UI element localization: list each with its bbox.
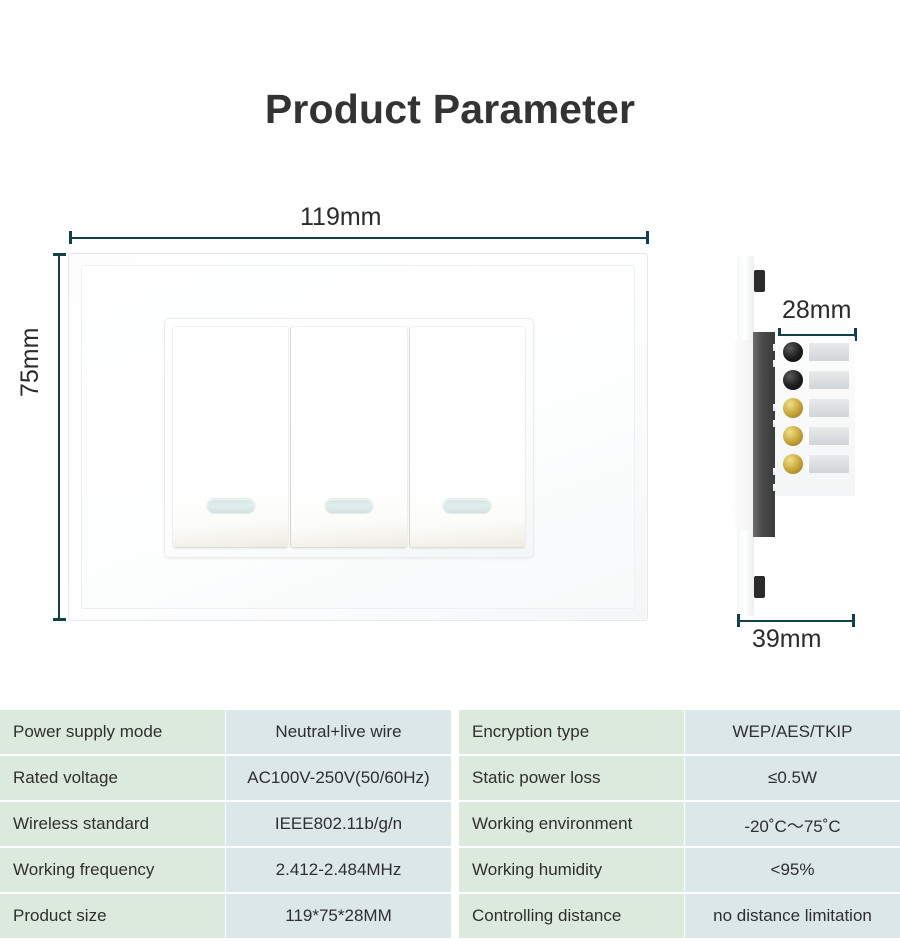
- rocker-button-3[interactable]: [410, 327, 525, 547]
- terminal-row-1: [783, 342, 851, 364]
- indicator-light-icon-3: [444, 499, 491, 513]
- table-row: -20˚C～75˚C: [685, 802, 900, 848]
- page-title: Product Parameter: [0, 86, 900, 133]
- front-width-dimension-line: [69, 237, 649, 239]
- table-row: Working humidity: [459, 848, 684, 894]
- terminal-row-3: [783, 398, 851, 420]
- rocker-row: [173, 327, 525, 547]
- table-center-gap: [451, 802, 459, 848]
- terminal-wire-slot-2: [809, 371, 849, 389]
- table-center-gap: [451, 894, 459, 940]
- front-height-tick-top: [53, 253, 66, 256]
- terminal-row-5: [783, 454, 851, 476]
- table-row: AC100V-250V(50/60Hz): [226, 756, 451, 802]
- switch-body-front: [733, 340, 755, 530]
- front-height-dimension-label: 75mm: [16, 328, 45, 397]
- terminal-wire-slot-5: [809, 455, 849, 473]
- table-row: Working environment: [459, 802, 684, 848]
- table-row: Static power loss: [459, 756, 684, 802]
- indicator-light-icon-1: [207, 499, 254, 513]
- terminal-wire-slot-4: [809, 427, 849, 445]
- table-row: WEP/AES/TKIP: [685, 710, 900, 756]
- spec-table: Power supply mode Neutral+live wire Encr…: [0, 710, 900, 940]
- terminal-screw-brass-1: [783, 398, 803, 418]
- table-row: Wireless standard: [0, 802, 225, 848]
- terminal-screw-brass-3: [783, 454, 803, 474]
- table-center-gap: [451, 848, 459, 894]
- side-width-dimension-line: [737, 620, 855, 622]
- terminal-screw-black-2: [783, 370, 803, 390]
- rocker-button-1[interactable]: [173, 327, 288, 547]
- rocker-button-2[interactable]: [291, 327, 406, 547]
- front-width-tick-right: [646, 231, 649, 244]
- table-row: Neutral+live wire: [226, 710, 451, 756]
- front-height-tick-bottom: [53, 618, 66, 621]
- table-row: Rated voltage: [0, 756, 225, 802]
- terminal-row-4: [783, 426, 851, 448]
- front-width-tick-left: [69, 231, 72, 244]
- table-row: <95%: [685, 848, 900, 894]
- front-width-dimension-label: 119mm: [300, 203, 382, 232]
- table-row: IEEE802.11b/g/n: [226, 802, 451, 848]
- mounting-tab-bottom-icon: [754, 576, 765, 598]
- mounting-tab-top-icon: [754, 270, 765, 292]
- terminal-row-2: [783, 370, 851, 392]
- table-row: ≤0.5W: [685, 756, 900, 802]
- switch-inner-frame: [164, 318, 534, 558]
- table-row: Controlling distance: [459, 894, 684, 940]
- table-center-gap: [451, 756, 459, 802]
- switch-body-chassis: [753, 332, 775, 537]
- table-row: no distance limitation: [685, 894, 900, 940]
- table-row: Power supply mode: [0, 710, 225, 756]
- side-width-tick-left: [737, 614, 740, 627]
- switch-side-view: [733, 256, 883, 616]
- terminal-wire-slot-3: [809, 399, 849, 417]
- indicator-light-icon-2: [325, 499, 372, 513]
- front-height-dimension-line: [58, 253, 60, 621]
- terminal-screw-brass-2: [783, 426, 803, 446]
- table-row: Working frequency: [0, 848, 225, 894]
- product-parameter-page: Product Parameter 119mm 75mm: [0, 0, 900, 941]
- switch-front-view: [68, 253, 648, 621]
- table-row: 2.412-2.484MHz: [226, 848, 451, 894]
- table-row: 119*75*28MM: [226, 894, 451, 940]
- table-center-gap: [451, 710, 459, 756]
- terminal-block: [775, 336, 855, 496]
- terminal-wire-slot-1: [809, 343, 849, 361]
- table-row: Encryption type: [459, 710, 684, 756]
- table-row: Product size: [0, 894, 225, 940]
- side-width-dimension-label: 39mm: [752, 625, 821, 654]
- side-width-tick-right: [852, 614, 855, 627]
- terminal-screw-black-1: [783, 342, 803, 362]
